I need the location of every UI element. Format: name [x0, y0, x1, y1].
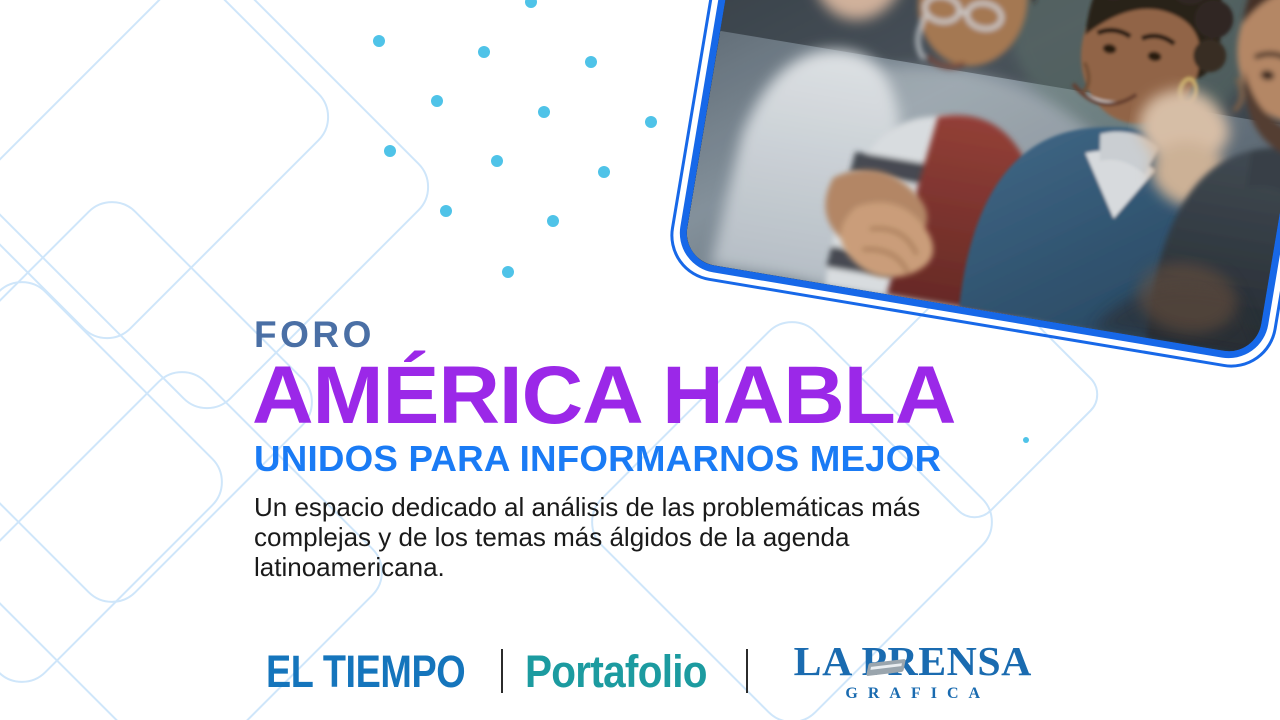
decorative-dot: [585, 56, 597, 68]
logo-portafolio-text: Portafolio: [525, 649, 704, 694]
page-subtitle: UNIDOS PARA INFORMARNOS MEJOR: [254, 440, 1007, 478]
hero-photo-card: [674, 0, 1280, 364]
page-title: AMÉRICA HABLA: [252, 357, 1022, 436]
decorative-diamond-4: [0, 267, 237, 697]
decorative-dot: [1023, 437, 1029, 443]
decorative-dot: [491, 155, 503, 167]
description-text: Un espacio dedicado al análisis de las p…: [254, 492, 992, 582]
decorative-dot: [384, 145, 396, 157]
poster-canvas: FORO AMÉRICA HABLA UNIDOS PARA INFORMARN…: [0, 0, 1280, 720]
decorative-dot: [373, 35, 385, 47]
logo-grafica-text: GRAFICA: [835, 686, 990, 702]
logo-divider-2: [746, 649, 748, 693]
partner-logo-row: EL TIEMPO Portafolio LA PRENSA GRAFICA: [266, 640, 1029, 702]
decorative-dot: [645, 116, 657, 128]
decorative-dot: [478, 46, 490, 58]
logo-el-tiempo[interactable]: EL TIEMPO: [266, 649, 479, 694]
decorative-dot: [440, 205, 452, 217]
decorative-dot: [547, 215, 559, 227]
eyebrow-label: FORO: [254, 316, 992, 353]
decorative-dot: [525, 0, 537, 8]
decorative-dot: [431, 95, 443, 107]
logo-el-tiempo-text: EL TIEMPO: [266, 649, 445, 694]
decorative-diamond-1: [0, 0, 343, 353]
logo-divider-1: [501, 649, 503, 693]
decorative-dot: [598, 166, 610, 178]
photo-frame: [674, 0, 1280, 364]
decorative-dot: [502, 266, 514, 278]
logo-la-prensa-text: LA PRENSA: [794, 641, 1032, 682]
poster-text-block: FORO AMÉRICA HABLA UNIDOS PARA INFORMARN…: [252, 316, 992, 582]
logo-la-prensa-grafica[interactable]: LA PRENSA GRAFICA: [796, 641, 1029, 702]
logo-portafolio[interactable]: Portafolio: [525, 649, 724, 694]
hero-photo-image: [682, 0, 1280, 356]
decorative-dot: [538, 106, 550, 118]
